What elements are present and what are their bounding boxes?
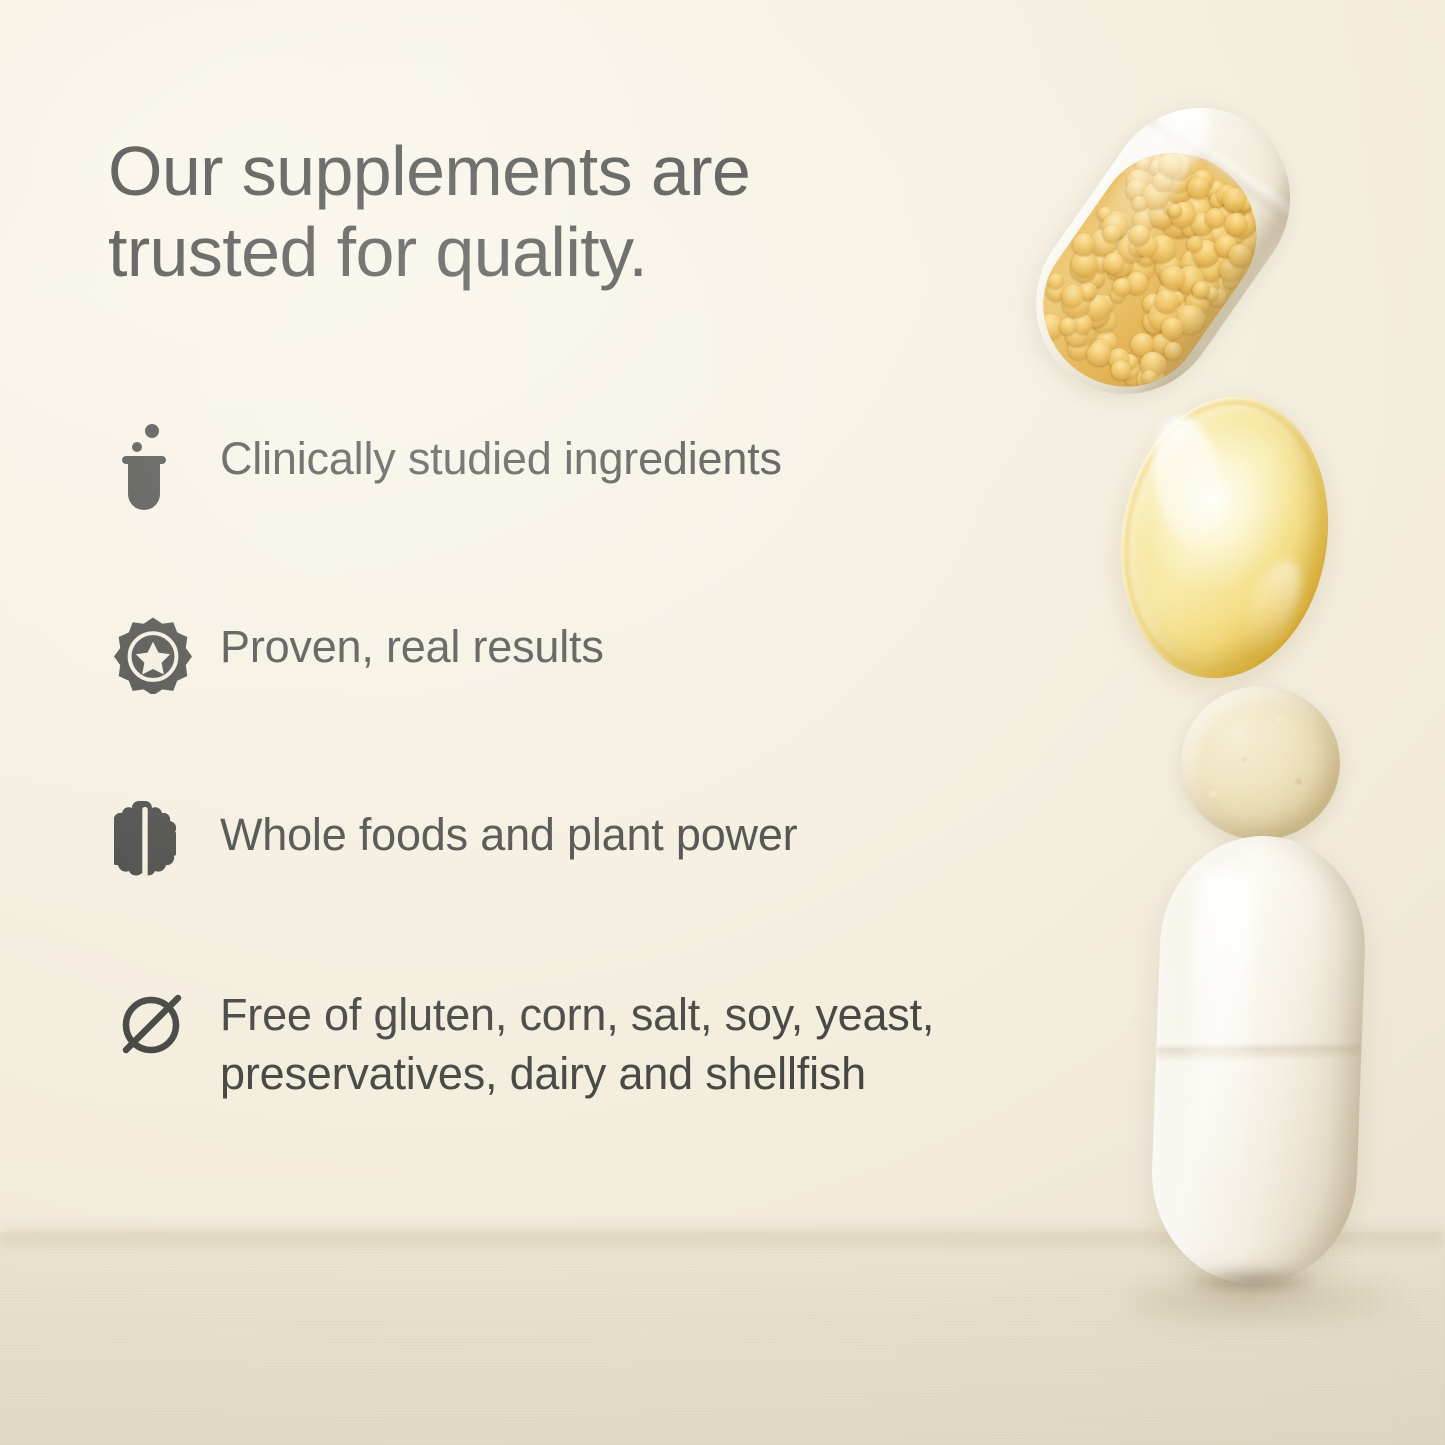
feature-item-clinically-studied: Clinically studied ingredients (110, 424, 1030, 612)
feature-item-whole-foods: Whole foods and plant power (110, 800, 1030, 980)
feature-label: Free of gluten, corn, salt, soy, yeast, … (220, 980, 1010, 1103)
award-badge-star-icon (110, 612, 220, 698)
feature-label: Proven, real results (220, 612, 604, 677)
feature-label: Clinically studied ingredients (220, 424, 782, 489)
feature-item-proven-results: Proven, real results (110, 612, 1030, 800)
feature-list: Clinically studied ingredients Proven, r… (110, 424, 1030, 1103)
test-tube-icon (110, 424, 220, 510)
page-title: Our supplements are trusted for quality. (108, 131, 938, 293)
feature-label: Whole foods and plant power (220, 800, 797, 865)
no-entry-slash-icon (110, 980, 220, 1066)
leaf-icon (110, 800, 220, 886)
content-layer: Our supplements are trusted for quality.… (0, 0, 1445, 1445)
feature-item-free-of-allergens: Free of gluten, corn, salt, soy, yeast, … (110, 980, 1030, 1103)
